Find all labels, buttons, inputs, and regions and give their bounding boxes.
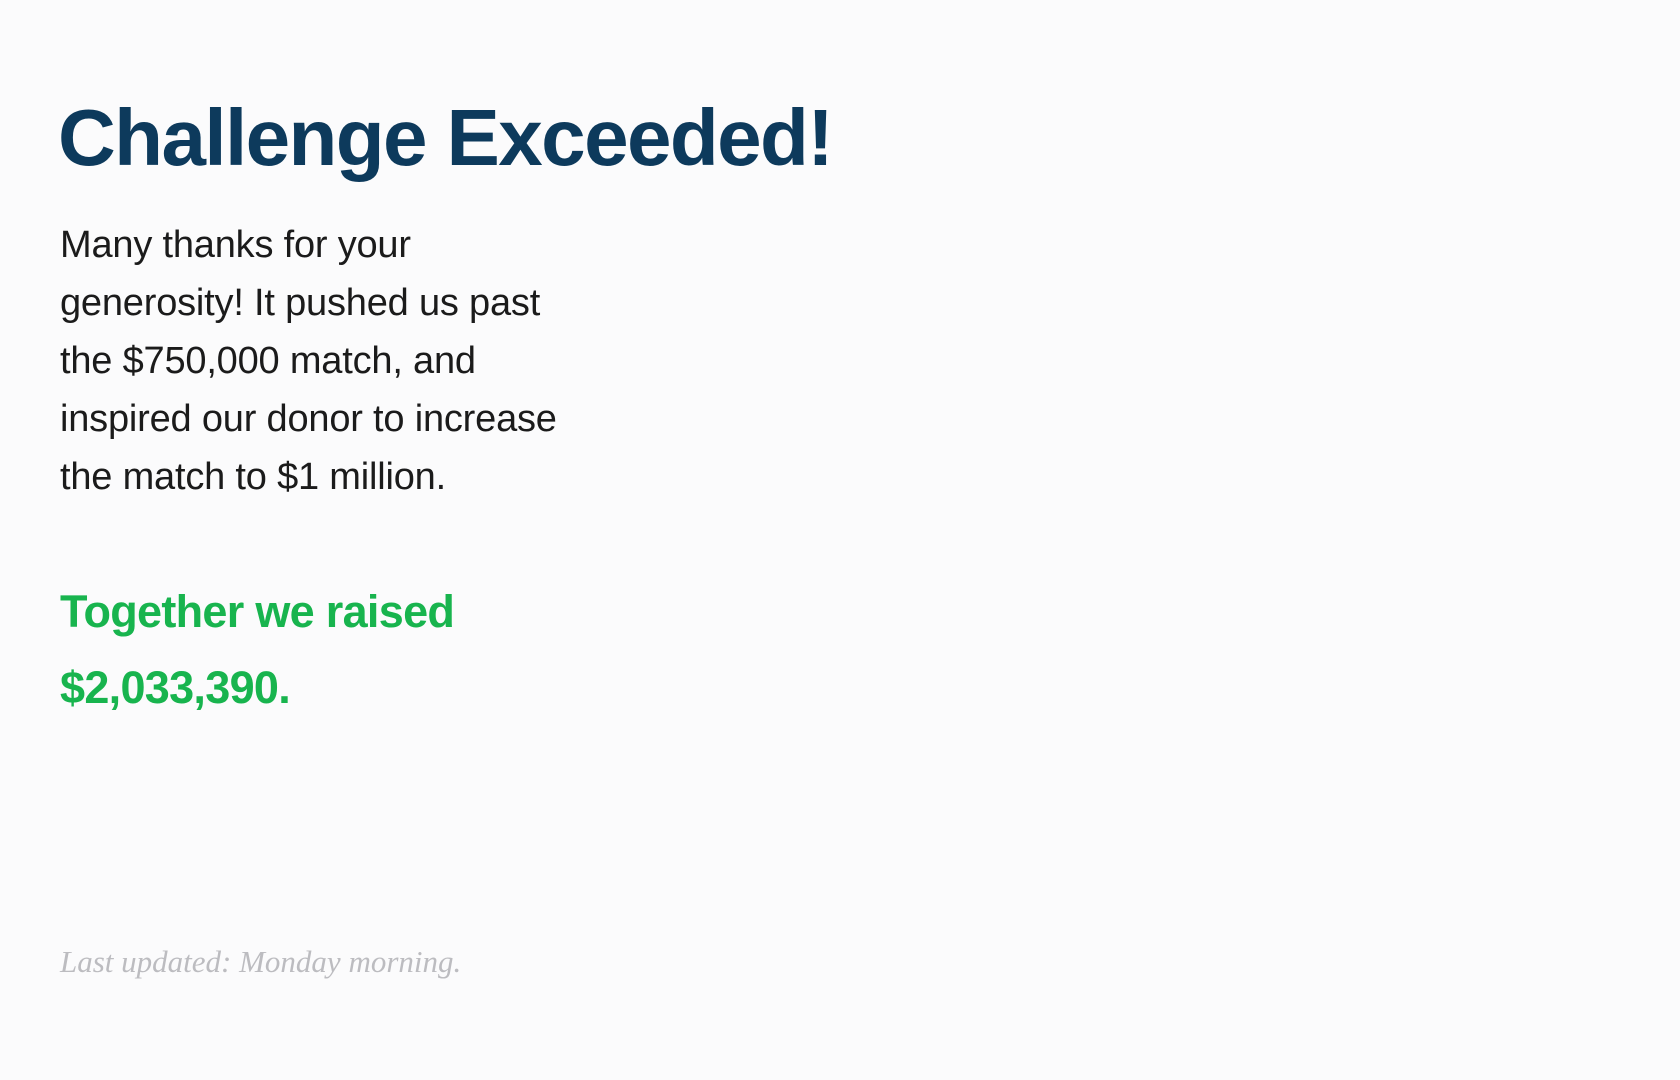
page-title: Challenge Exceeded!	[58, 90, 832, 186]
background-artifact	[900, 944, 1420, 978]
campaign-update-page: Challenge Exceeded! Many thanks for your…	[0, 0, 1680, 1080]
thank-you-message: Many thanks for your generosity! It push…	[60, 216, 660, 506]
body-line: Many thanks for your	[60, 216, 660, 274]
last-updated-note: Last updated: Monday morning.	[60, 942, 461, 982]
body-line: the $750,000 match, and	[60, 332, 660, 390]
body-line: inspired our donor to increase	[60, 390, 660, 448]
body-line: the match to $1 million.	[60, 448, 660, 506]
total-raised-callout: Together we raised $2,033,390.	[60, 574, 700, 726]
total-raised-label: Together we raised	[60, 574, 700, 650]
body-line: generosity! It pushed us past	[60, 274, 660, 332]
total-raised-amount: $2,033,390.	[60, 650, 700, 726]
